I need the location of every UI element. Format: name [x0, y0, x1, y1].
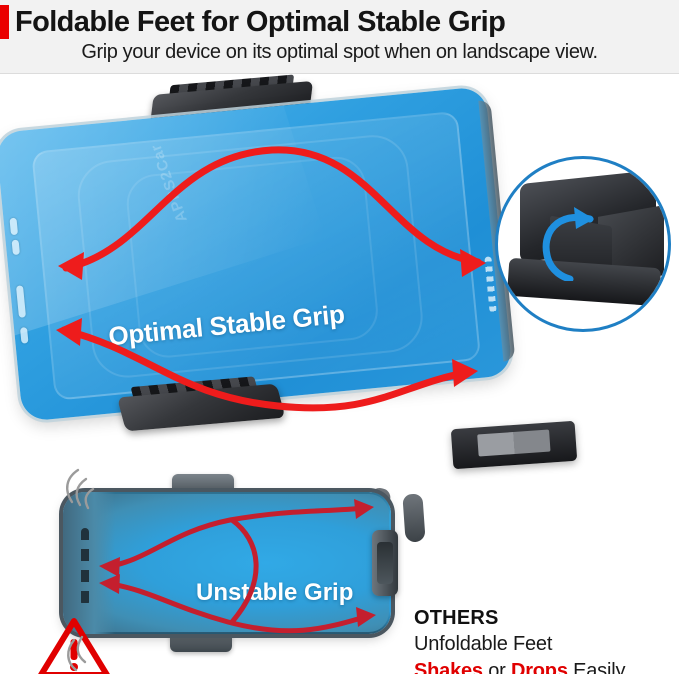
infographic-root: Foldable Feet for Optimal Stable Grip Gr…: [0, 0, 679, 674]
phone-side-buttons: [81, 528, 89, 606]
page-subtitle: Grip your device on its optimal spot whe…: [0, 41, 679, 64]
tablet-case-plate: [31, 111, 481, 401]
page-title: Foldable Feet for Optimal Stable Grip: [15, 5, 505, 39]
header-band: Foldable Feet for Optimal Stable Grip Gr…: [0, 0, 679, 74]
title-row: Foldable Feet for Optimal Stable Grip: [0, 2, 679, 42]
device-button-4: [20, 327, 29, 344]
illustration-stage: APPS2Car Optimal Stable Grip: [0, 74, 679, 674]
drops-word: Drops: [511, 660, 568, 674]
accent-bar: [0, 5, 9, 39]
phone-clamp-right: [372, 530, 398, 596]
warning-triangle-icon: [38, 617, 110, 674]
device-button-2: [12, 240, 20, 256]
others-line-shakes-drops: Shakes or Drops Easily: [414, 658, 676, 674]
phone-device: [63, 492, 391, 634]
easily-word: Easily: [568, 660, 626, 674]
scene-optimal-grip: APPS2Car Optimal Stable Grip: [0, 74, 679, 454]
phone-bezel: [63, 492, 115, 634]
shakes-word: Shakes: [414, 660, 483, 674]
device-button-1: [9, 218, 18, 236]
weak-label: Weak: [30, 670, 88, 674]
rotation-arrow-icon: [532, 197, 604, 281]
unstable-grip-label: Unstable Grip: [196, 579, 353, 607]
tablet-device: APPS2Car: [0, 86, 513, 422]
others-title: OTHERS: [414, 605, 676, 631]
foldable-foot-closeup-inset: [495, 156, 671, 332]
tablet-body: APPS2Car: [0, 86, 513, 422]
others-line-unfoldable: Unfoldable Feet: [414, 631, 676, 658]
or-word: or: [483, 660, 511, 674]
others-text-block: OTHERS Unfoldable Feet Shakes or Drops E…: [414, 605, 676, 674]
